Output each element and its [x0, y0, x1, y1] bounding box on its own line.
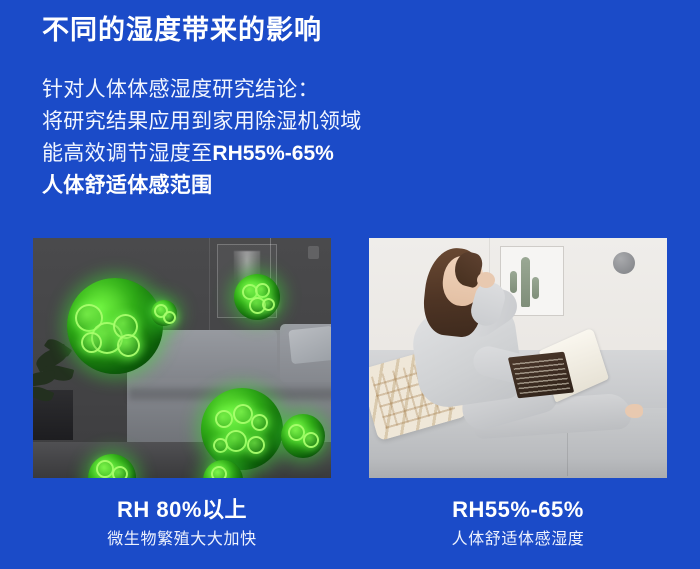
- microbe-sphere-medium: [234, 274, 280, 320]
- wall-switch: [308, 246, 319, 259]
- intro-line-2: 将研究结果应用到家用除湿机领域: [42, 106, 362, 138]
- photo-dim-room-with-microbes: [33, 238, 331, 478]
- intro-line-4: 人体舒适体感范围: [42, 170, 362, 202]
- intro-line-3-prefix: 能高效调节湿度至: [42, 142, 212, 165]
- intro-paragraph: 针对人体体感湿度研究结论： 将研究结果应用到家用除湿机领域 能高效调节湿度至RH…: [42, 74, 362, 202]
- caption-left: RH 80%以上 微生物繁殖大大加快: [33, 496, 331, 550]
- microbe-sphere-medium: [281, 414, 325, 458]
- caption-right-title: RH55%-65%: [369, 496, 667, 524]
- bright-living-room-scene: [369, 238, 667, 478]
- cactus-illustration: [521, 257, 530, 307]
- intro-line-3-rh-value: RH55%-65%: [212, 142, 333, 165]
- dim-living-room-scene: [33, 238, 331, 478]
- microbe-sphere-small: [151, 300, 177, 326]
- pendant-cord: [270, 238, 271, 280]
- humidity-infographic-page: { "theme": { "background_blue": "#1b4bc8…: [0, 0, 700, 569]
- caption-right-subtitle: 人体舒适体感湿度: [369, 530, 667, 551]
- microbe-sphere-large: [201, 388, 283, 470]
- book-cover: [508, 352, 574, 399]
- caption-left-subtitle: 微生物繁殖大大加快: [33, 530, 331, 551]
- page-title: 不同的湿度带来的影响: [42, 14, 322, 48]
- microbe-sphere-large: [67, 278, 163, 374]
- intro-line-3: 能高效调节湿度至RH55%-65%: [42, 138, 362, 170]
- wall-speaker: [613, 252, 635, 274]
- intro-line-1: 针对人体体感湿度研究结论：: [42, 74, 362, 106]
- photo-woman-reading-on-sofa: [369, 238, 667, 478]
- person-hand-at-forehead: [477, 272, 495, 288]
- plant-leaf: [33, 370, 56, 387]
- caption-left-title: RH 80%以上: [33, 496, 331, 524]
- sofa-cushion: [288, 326, 331, 364]
- person-foot: [625, 404, 643, 418]
- caption-right: RH55%-65% 人体舒适体感湿度: [369, 496, 667, 550]
